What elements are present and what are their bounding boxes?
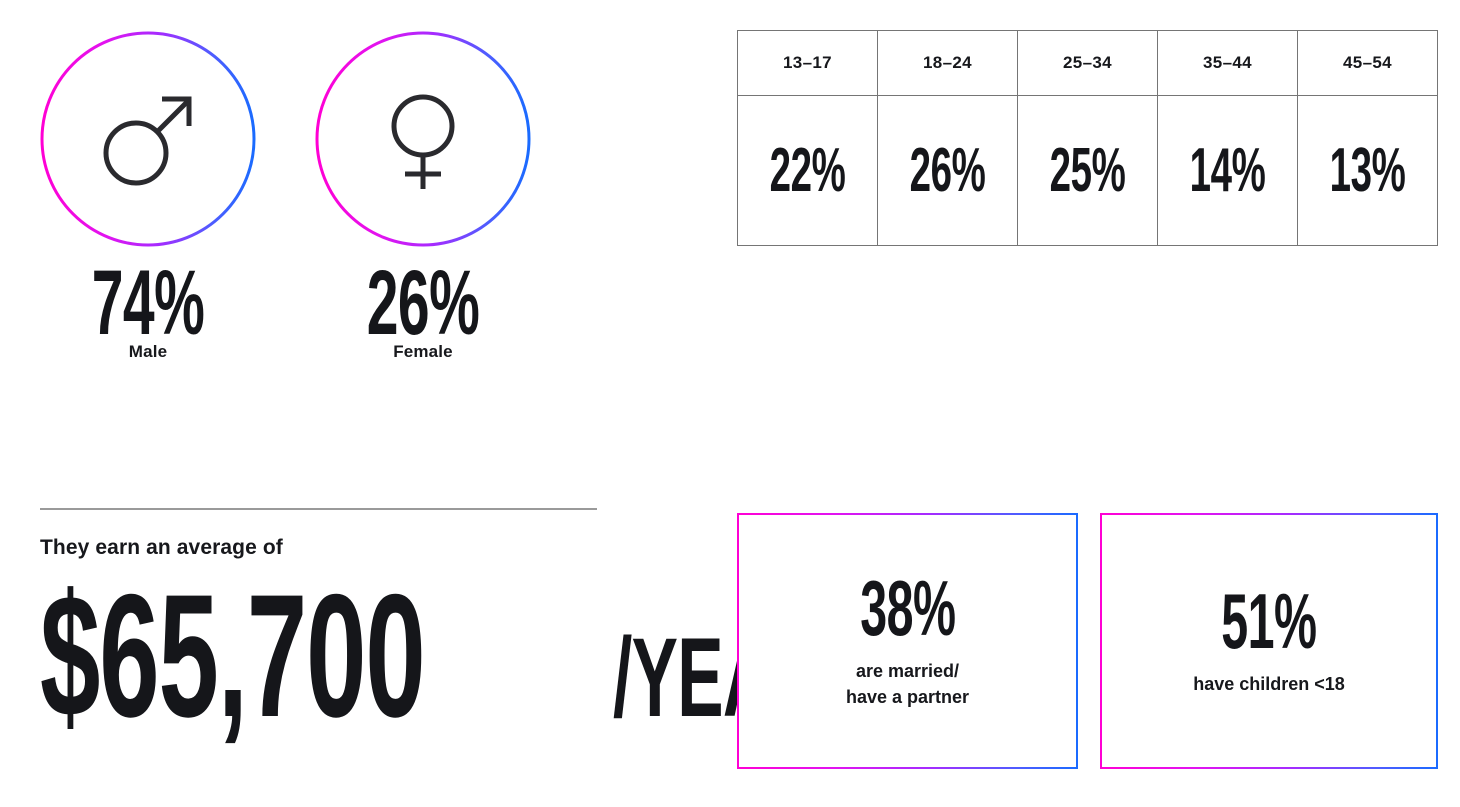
income-amount: $65,700 bbox=[40, 582, 425, 732]
income-caption: They earn an average of bbox=[40, 536, 600, 560]
age-distribution-table: 13–17 18–24 25–34 35–44 45–54 22% 26% 25… bbox=[737, 30, 1438, 246]
age-value-cell: 25% bbox=[1018, 96, 1158, 246]
age-value-cell: 14% bbox=[1158, 96, 1298, 246]
gender-percent-female: 26% bbox=[352, 260, 495, 346]
age-header-cell: 18–24 bbox=[878, 31, 1018, 96]
stat-label-children: have children <18 bbox=[1193, 671, 1345, 697]
section-divider bbox=[40, 508, 597, 510]
age-header-cell: 25–34 bbox=[1018, 31, 1158, 96]
gradient-ring-male bbox=[39, 30, 257, 248]
age-value-cell: 22% bbox=[738, 96, 878, 246]
age-header-cell: 35–44 bbox=[1158, 31, 1298, 96]
table-row: 22% 26% 25% 14% 13% bbox=[738, 96, 1438, 246]
stat-card-content: 51% have children <18 bbox=[1102, 515, 1436, 767]
age-value: 14% bbox=[1184, 140, 1270, 202]
age-value: 13% bbox=[1324, 140, 1410, 202]
stat-label-line1: have children <18 bbox=[1193, 671, 1345, 697]
stat-label-married: are married/ have a partner bbox=[846, 658, 969, 710]
male-symbol-icon bbox=[88, 79, 208, 199]
age-value-cell: 13% bbox=[1298, 96, 1438, 246]
gender-stat-female: 26% Female bbox=[308, 30, 538, 362]
income-amount-row: $65,700 /YEAR bbox=[40, 582, 600, 732]
age-header-cell: 45–54 bbox=[1298, 31, 1438, 96]
stat-percent-children: 51% bbox=[1221, 585, 1316, 657]
gender-breakdown-section: 74% Male bbox=[0, 0, 620, 420]
stat-label-line2: have a partner bbox=[846, 684, 969, 710]
table-header-row: 13–17 18–24 25–34 35–44 45–54 bbox=[738, 31, 1438, 96]
stat-label-line1: are married/ bbox=[846, 658, 969, 684]
age-value: 25% bbox=[1044, 140, 1130, 202]
age-header-cell: 13–17 bbox=[738, 31, 878, 96]
gradient-ring-female bbox=[314, 30, 532, 248]
stat-card-content: 38% are married/ have a partner bbox=[739, 515, 1076, 767]
age-value: 22% bbox=[764, 140, 850, 202]
average-income-section: They earn an average of $65,700 /YEAR bbox=[40, 508, 600, 732]
age-value-cell: 26% bbox=[878, 96, 1018, 246]
gender-percent-male: 74% bbox=[77, 260, 220, 346]
stat-percent-married: 38% bbox=[860, 572, 955, 644]
stat-card-children: 51% have children <18 bbox=[1100, 513, 1438, 769]
female-symbol-icon bbox=[363, 79, 483, 199]
gender-stat-male: 74% Male bbox=[33, 30, 263, 362]
stat-card-married: 38% are married/ have a partner bbox=[737, 513, 1078, 769]
age-value: 26% bbox=[904, 140, 990, 202]
